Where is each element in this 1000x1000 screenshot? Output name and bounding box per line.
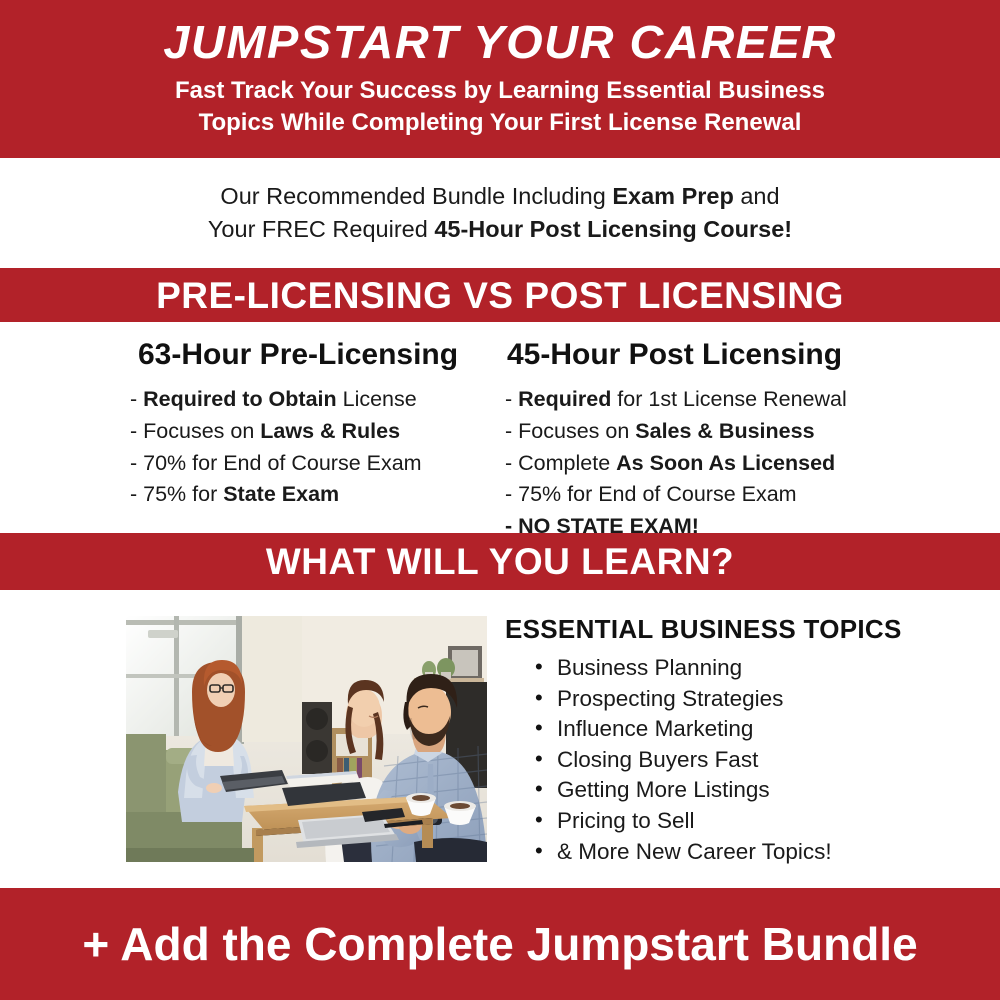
compare-column-pre-licensing: 63-Hour Pre-Licensing - Required to Obta… xyxy=(130,322,480,511)
add-bundle-cta[interactable]: + Add the Complete Jumpstart Bundle xyxy=(0,888,1000,1000)
post-licensing-title: 45-Hour Post Licensing xyxy=(507,340,905,370)
learn-banner: WHAT WILL YOU LEARN? xyxy=(0,533,1000,590)
item-bold: State Exam xyxy=(223,482,339,506)
compare-banner-label: PRE-LICENSING VS POST LICENSING xyxy=(156,277,844,314)
hero-title: JUMPSTART YOUR CAREER xyxy=(163,19,836,65)
topics-list: Business Planning Prospecting Strategies… xyxy=(505,653,935,867)
item-plain: 75% for xyxy=(143,482,223,506)
item-plain: Focuses on xyxy=(143,419,260,443)
topics-title: ESSENTIAL BUSINESS TOPICS xyxy=(505,614,935,645)
intro-section: Our Recommended Bundle Including Exam Pr… xyxy=(0,158,1000,268)
item-bold: Sales & Business xyxy=(635,419,814,443)
bullet-dash: - xyxy=(130,419,143,443)
item-plain: 70% for End of Course Exam xyxy=(143,451,421,475)
compare-section: 63-Hour Pre-Licensing - Required to Obta… xyxy=(0,322,1000,533)
intro-line-1-suffix: and xyxy=(734,183,780,209)
list-item: - 75% for End of Course Exam xyxy=(505,479,905,511)
item-plain: for 1st License Renewal xyxy=(611,387,846,411)
post-licensing-list: - Required for 1st License Renewal - Foc… xyxy=(505,384,905,543)
hero-banner: JUMPSTART YOUR CAREER Fast Track Your Su… xyxy=(0,0,1000,158)
bullet-dash: - xyxy=(505,419,518,443)
item-bold: Required xyxy=(518,387,611,411)
item-plain: Focuses on xyxy=(518,419,635,443)
bullet-dash: - xyxy=(505,387,518,411)
item-plain: License xyxy=(337,387,417,411)
bullet-dash: - xyxy=(130,451,143,475)
item-plain: Complete xyxy=(518,451,616,475)
list-item: Pricing to Sell xyxy=(535,806,935,837)
bullet-dash: - xyxy=(505,451,518,475)
intro-line-1: Our Recommended Bundle Including Exam Pr… xyxy=(220,180,779,213)
bullet-dash: - xyxy=(130,387,143,411)
list-item: Business Planning xyxy=(535,653,935,684)
bullet-dash: - xyxy=(130,482,143,506)
compare-banner: PRE-LICENSING VS POST LICENSING xyxy=(0,268,1000,322)
pre-licensing-list: - Required to Obtain License - Focuses o… xyxy=(130,384,480,511)
list-item: Getting More Listings xyxy=(535,775,935,806)
intro-line-2-prefix: Your FREC Required xyxy=(208,216,434,242)
bullet-dash: - xyxy=(505,482,518,506)
list-item: - 75% for State Exam xyxy=(130,479,480,511)
list-item: - Required to Obtain License xyxy=(130,384,480,416)
list-item: Closing Buyers Fast xyxy=(535,745,935,776)
list-item: Prospecting Strategies xyxy=(535,684,935,715)
topics-block: ESSENTIAL BUSINESS TOPICS Business Plann… xyxy=(505,614,935,867)
item-plain: 75% for End of Course Exam xyxy=(518,482,796,506)
item-bold: As Soon As Licensed xyxy=(616,451,835,475)
compare-column-post-licensing: 45-Hour Post Licensing - Required for 1s… xyxy=(505,322,905,543)
learn-banner-label: WHAT WILL YOU LEARN? xyxy=(266,543,734,580)
item-bold: Required to Obtain xyxy=(143,387,337,411)
list-item: - Required for 1st License Renewal xyxy=(505,384,905,416)
hero-subtitle-line1: Fast Track Your Success by Learning Esse… xyxy=(175,75,825,107)
intro-line-2: Your FREC Required 45-Hour Post Licensin… xyxy=(208,213,792,246)
list-item: - Focuses on Laws & Rules xyxy=(130,416,480,448)
list-item: - Complete As Soon As Licensed xyxy=(505,448,905,480)
hero-subtitle-line2: Topics While Completing Your First Licen… xyxy=(199,107,802,139)
promo-poster: JUMPSTART YOUR CAREER Fast Track Your Su… xyxy=(0,0,1000,1000)
meeting-photo xyxy=(126,616,487,862)
intro-line-2-bold: 45-Hour Post Licensing Course! xyxy=(434,216,792,242)
add-bundle-label: + Add the Complete Jumpstart Bundle xyxy=(82,921,917,967)
pre-licensing-title: 63-Hour Pre-Licensing xyxy=(138,340,480,370)
list-item: - Focuses on Sales & Business xyxy=(505,416,905,448)
intro-line-1-bold: Exam Prep xyxy=(612,183,733,209)
list-item: & More New Career Topics! xyxy=(535,837,935,868)
learn-section: ESSENTIAL BUSINESS TOPICS Business Plann… xyxy=(0,590,1000,888)
intro-line-1-prefix: Our Recommended Bundle Including xyxy=(220,183,612,209)
list-item: - 70% for End of Course Exam xyxy=(130,448,480,480)
list-item: Influence Marketing xyxy=(535,714,935,745)
item-bold: Laws & Rules xyxy=(260,419,400,443)
